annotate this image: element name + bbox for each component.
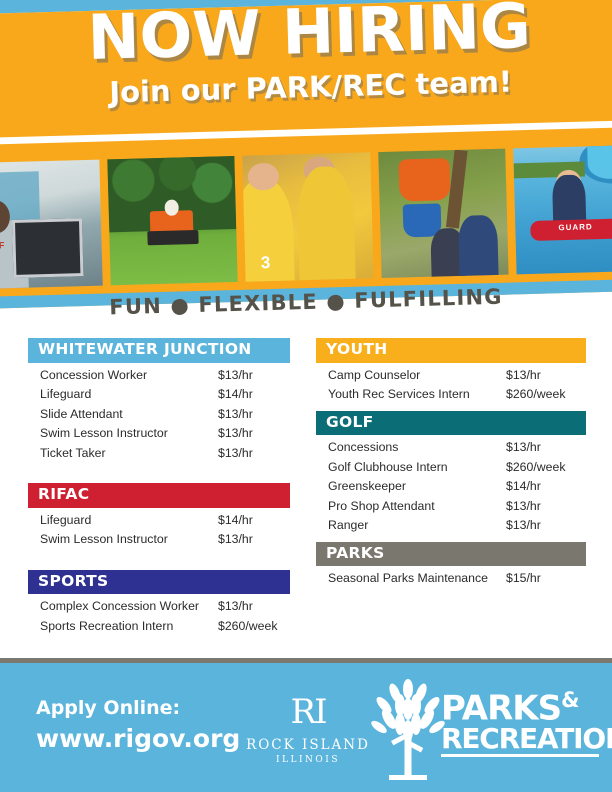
section-header-whitewater-junction: WHITEWATER JUNCTION [28,338,290,363]
section-job-list: Concessions$13/hrGolf Clubhouse Intern$2… [316,435,586,535]
job-title: Sports Recreation Intern [40,617,218,636]
job-pay: $13/hr [218,530,253,549]
job-row: Lifeguard$14/hr [40,385,290,404]
section-header-parks: PARKS [316,542,586,567]
photo-lifeguard-in-pool: GUARD [513,145,612,274]
job-pay: $13/hr [506,438,541,457]
job-title: Seasonal Parks Maintenance [328,569,506,588]
job-title: Lifeguard [40,511,218,530]
apply-online-block: Apply Online: www.rigov.org [36,695,240,755]
job-row: Youth Rec Services Intern$260/week [328,385,586,404]
job-row: Ticket Taker$13/hr [40,444,290,463]
photo-guard-tube-text: GUARD [558,222,593,232]
section-header-golf: GOLF [316,411,586,436]
section-job-list: Lifeguard$14/hrSwim Lesson Instructor$13… [28,508,290,550]
job-title: Swim Lesson Instructor [40,424,218,443]
section-job-list: Camp Counselor$13/hrYouth Rec Services I… [316,363,586,405]
listings-column-left: WHITEWATER JUNCTIONConcession Worker$13/… [28,338,290,636]
job-pay: $14/hr [218,511,253,530]
photo-staff-at-computer: STAFF [0,160,103,289]
job-row: Greenskeeper$14/hr [328,477,586,496]
job-pay: $13/hr [218,405,253,424]
section-job-list: Concession Worker$13/hrLifeguard$14/hrSl… [28,363,290,463]
job-pay: $14/hr [506,477,541,496]
job-pay: $260/week [506,458,565,477]
job-pay: $15/hr [506,569,541,588]
job-title: Ranger [328,516,506,535]
job-title: Greenskeeper [328,477,506,496]
job-title: Concessions [328,438,506,457]
now-hiring-flyer: NOW HIRING Join our PARK/REC team! STAFF… [0,0,612,792]
job-pay: $13/hr [218,444,253,463]
job-pay: $13/hr [506,366,541,385]
job-pay: $13/hr [218,424,253,443]
photo-camp-counselor-outdoors [378,149,509,278]
job-pay: $260/week [218,617,277,636]
job-row: Swim Lesson Instructor$13/hr [40,530,290,549]
job-pay: $13/hr [506,497,541,516]
section-spacer [28,463,290,483]
section-spacer [28,550,290,570]
job-row: Pro Shop Attendant$13/hr [328,497,586,516]
listings-column-right: YOUTHCamp Counselor$13/hrYouth Rec Servi… [316,338,586,589]
logo-state-name: ILLINOIS [245,755,371,765]
ri-monogram: RI [253,695,363,729]
parks-recreation-wordmark: PARKS& RECREATION [441,691,601,757]
footer-bar: Apply Online: www.rigov.org RI ROCK ISLA… [0,658,612,792]
photo-strip: STAFF 3 GUARD [0,127,612,309]
job-title: Slide Attendant [40,405,218,424]
job-row: Ranger$13/hr [328,516,586,535]
job-title: Swim Lesson Instructor [40,530,218,549]
job-title: Pro Shop Attendant [328,497,506,516]
job-row: Swim Lesson Instructor$13/hr [40,424,290,443]
apply-online-label: Apply Online: [36,695,240,723]
section-job-list: Seasonal Parks Maintenance$15/hr [316,566,586,588]
job-title: Youth Rec Services Intern [328,385,506,404]
job-row: Concessions$13/hr [328,438,586,457]
job-row: Slide Attendant$13/hr [40,405,290,424]
wordmark-parks: PARKS& [441,691,601,725]
job-pay: $13/hr [218,597,253,616]
section-header-sports: SPORTS [28,570,290,595]
job-title: Lifeguard [40,385,218,404]
job-title: Camp Counselor [328,366,506,385]
wordmark-recreation: RECREATION [441,725,601,752]
photo-kids-in-yellow-jerseys: 3 [243,152,374,281]
job-row: Concession Worker$13/hr [40,366,290,385]
job-row: Camp Counselor$13/hr [328,366,586,385]
job-pay: $13/hr [218,366,253,385]
headline: NOW HIRING [0,0,612,72]
job-pay: $13/hr [506,516,541,535]
job-row: Seasonal Parks Maintenance$15/hr [328,569,586,588]
section-header-youth: YOUTH [316,338,586,363]
job-row: Golf Clubhouse Intern$260/week [328,458,586,477]
job-title: Complex Concession Worker [40,597,218,616]
photo-mower-on-grass [108,156,239,285]
photo-jersey-number: 3 [261,253,271,273]
wordmark-ampersand: & [561,688,578,712]
photo-staff-shirt-text: STAFF [0,240,6,251]
job-row: Sports Recreation Intern$260/week [40,617,290,636]
job-title: Concession Worker [40,366,218,385]
job-title: Ticket Taker [40,444,218,463]
job-title: Golf Clubhouse Intern [328,458,506,477]
section-job-list: Complex Concession Worker$13/hrSports Re… [28,594,290,636]
job-pay: $260/week [506,385,565,404]
job-row: Complex Concession Worker$13/hr [40,597,290,616]
rock-island-parks-rec-logo: RI ROCK ISLAND ILLINOIS [245,679,595,789]
section-header-rifac: RIFAC [28,483,290,508]
job-pay: $14/hr [218,385,253,404]
logo-city-name: ROCK ISLAND [245,737,371,753]
tree-icon [369,679,447,783]
job-row: Lifeguard$14/hr [40,511,290,530]
website-url[interactable]: www.rigov.org [36,723,240,756]
job-listings: WHITEWATER JUNCTIONConcession Worker$13/… [0,338,612,648]
